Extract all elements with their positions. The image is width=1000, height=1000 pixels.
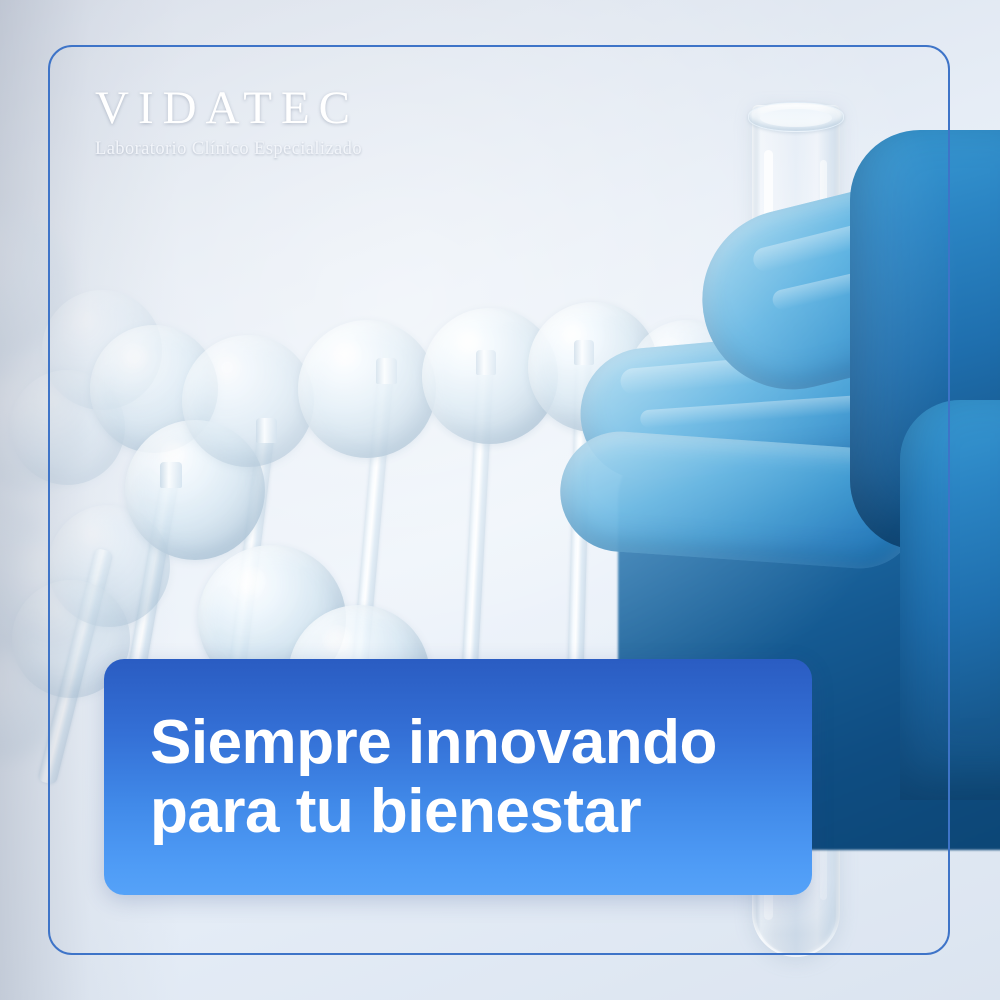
logo-brand-name: VIDATEC xyxy=(95,85,362,132)
headline-line-1: Siempre innovando xyxy=(150,708,812,777)
poster-canvas: VIDATEC Laboratorio Clínico Especializad… xyxy=(0,0,1000,1000)
logo-tagline: Laboratorio Clínico Especializado xyxy=(95,139,362,160)
headline-line-2: para tu bienestar xyxy=(150,777,812,846)
logo: VIDATEC Laboratorio Clínico Especializad… xyxy=(95,85,362,160)
headline-banner: Siempre innovando para tu bienestar xyxy=(104,659,812,895)
